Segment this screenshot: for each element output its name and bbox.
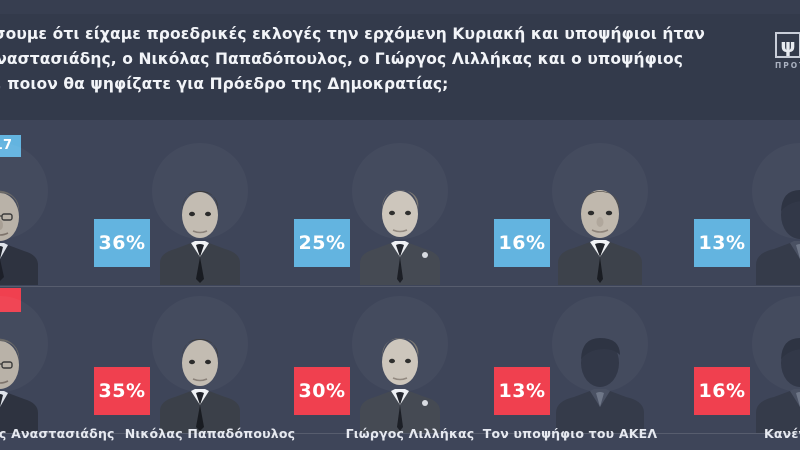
silhouette-none <box>748 329 800 433</box>
photo-papadopoulos <box>148 329 252 433</box>
logo-subtitle: ΠΡΟΤΑΣΗ <box>775 61 800 70</box>
chart-area: 2017 <box>0 120 800 450</box>
poll-question: Αν υποθέσουμε ότι είχαμε προεδρικές εκλο… <box>0 22 672 97</box>
photo-lillikas <box>348 181 452 285</box>
psi-logo-icon: ψ <box>775 32 800 58</box>
photo-akel <box>548 181 652 285</box>
cell-none-2018 <box>720 288 800 433</box>
silhouette-akel <box>548 329 652 433</box>
cell-akel-2017: 13% <box>520 135 680 285</box>
photo-lillikas <box>348 329 452 433</box>
cell-anastasiadis-2018: 35% <box>0 288 80 433</box>
axis-label-akel: Τον υποψήφιο του ΑΚΕΛ <box>470 425 670 442</box>
cell-lillikas-2017: 16% <box>320 135 480 285</box>
row-baseline-2017 <box>0 286 800 287</box>
cell-anastasiadis-2017: 36% <box>0 135 80 285</box>
question-line-3: του ΑΚΕΛ, ποιον θα ψηφίζατε για Πρόεδρο … <box>0 72 672 97</box>
channel-logo: ψ ΠΡΟΤΑΣΗ <box>775 32 800 74</box>
cell-none-2017 <box>720 135 800 285</box>
photo-anastasiadis <box>0 181 52 285</box>
question-line-2: ο Νίκος Αναστασιάδης, ο Νικόλας Παπαδόπο… <box>0 47 672 72</box>
header-band: Αν υποθέσουμε ότι είχαμε προεδρικές εκλο… <box>0 0 800 120</box>
cell-lillikas-2018: 13% <box>320 288 480 433</box>
series-row-2018: 35% <box>0 288 800 433</box>
question-line-1: Αν υποθέσουμε ότι είχαμε προεδρικές εκλο… <box>0 22 672 47</box>
header-top-strip <box>0 0 800 14</box>
photo-anastasiadis <box>0 329 52 433</box>
photo-papadopoulos <box>148 181 252 285</box>
cell-papadopoulos-2017: 25% <box>120 135 280 285</box>
axis-label-none: Κανένα <box>690 425 800 442</box>
silhouette-none <box>748 181 800 285</box>
series-row-2017: 2017 <box>0 135 800 285</box>
axis-label-papadopoulos: Νικόλας Παπαδόπουλος <box>110 425 310 442</box>
cell-akel-2018: 16% <box>520 288 680 433</box>
x-axis-labels: Νίκος Αναστασιάδης Νικόλας Παπαδόπουλος … <box>0 425 800 450</box>
cell-papadopoulos-2018: 30% <box>120 288 280 433</box>
